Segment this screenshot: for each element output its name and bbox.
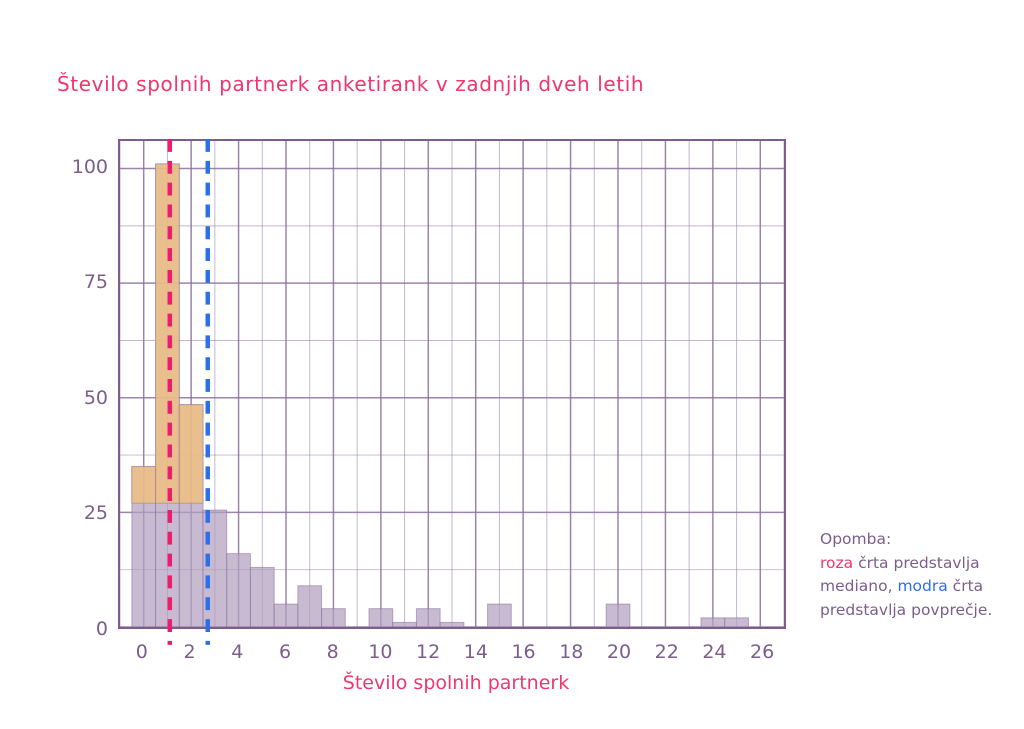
x-axis-title: Število spolnih partnerk [0,672,1024,694]
x-tick-label: 0 [122,641,162,663]
chart-title: Število spolnih partnerk anketirank v za… [57,72,644,96]
x-tick-label: 26 [742,641,782,663]
x-tick-label: 4 [217,641,257,663]
y-tick-label: 100 [62,156,108,178]
x-tick-label: 14 [456,641,496,663]
x-axis-title-text: Število spolnih partnerk [343,672,569,694]
x-tick-label: 10 [360,641,400,663]
x-tick-label: 24 [694,641,734,663]
y-tick-label: 25 [62,502,108,524]
x-tick-label: 12 [408,641,448,663]
x-tick-label: 8 [313,641,353,663]
x-tick-label: 6 [265,641,305,663]
note-block: Opomba: roza črta predstavlja mediano, m… [820,528,1016,622]
chart-root: Število spolnih partnerk anketirank v za… [0,0,1024,729]
x-tick-label: 20 [599,641,639,663]
reference-lines [120,141,784,627]
note-blue-word: modra [897,577,947,595]
y-tick-label: 75 [62,271,108,293]
y-tick-label: 50 [62,387,108,409]
note-pink-word: roza [820,554,853,572]
x-tick-label: 18 [551,641,591,663]
y-tick-label: 0 [62,618,108,640]
note-heading: Opomba: [820,528,1016,552]
x-tick-label: 16 [504,641,544,663]
x-tick-label: 2 [170,641,210,663]
plot-area [118,139,786,629]
x-tick-label: 22 [647,641,687,663]
